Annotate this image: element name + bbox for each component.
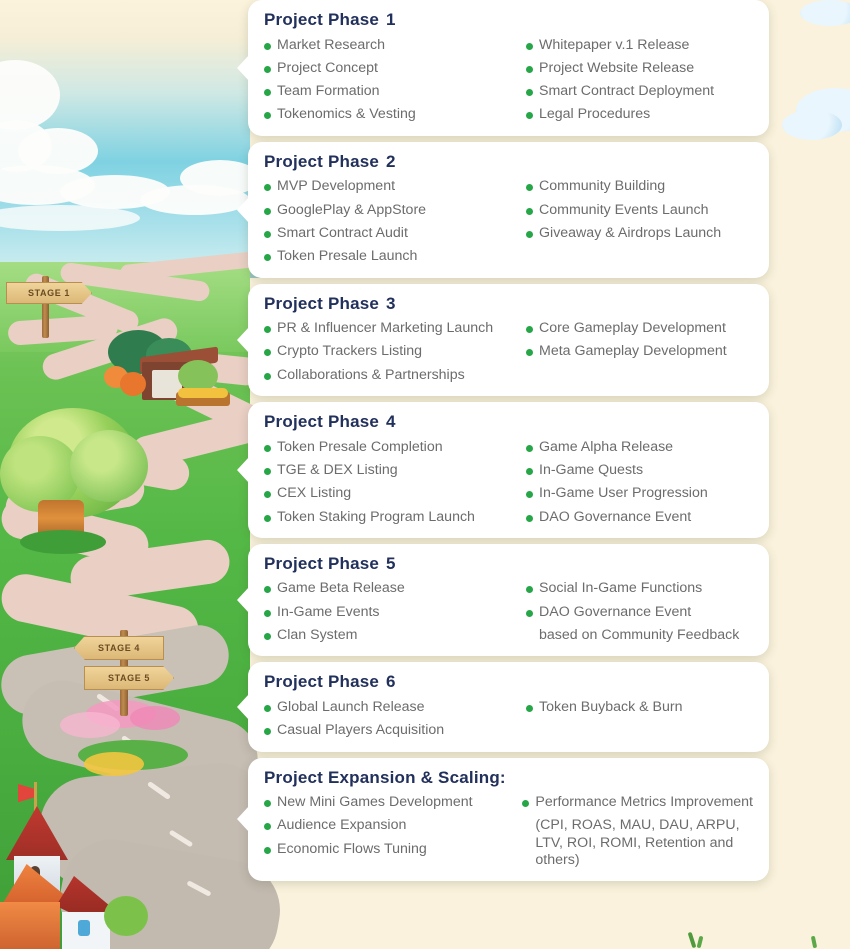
phase-item-label: In-Game User Progression [539,485,708,502]
phase-item-label: Casual Players Acquisition [277,722,444,739]
phase-item-label: Legal Procedures [539,106,650,123]
phase-item-label: Team Formation [277,83,380,100]
phase-item-label: TGE & DEX Listing [277,462,398,479]
bullet-dot-icon [264,515,271,522]
phase-title-text: Project Expansion & Scaling: [264,768,506,787]
phase-card-title: Project Phase6 [264,672,753,692]
signpost-stage-5-label: STAGE 5 [84,666,174,690]
flowers-yellow [84,752,144,776]
phase-item[interactable]: Social In-Game Functions [526,580,753,597]
phase-item[interactable]: Audience Expansion [264,817,522,834]
phase-item-label: Token Buyback & Burn [539,699,683,716]
phase-item[interactable]: Meta Gameplay Development [526,343,753,360]
phase-number: 4 [386,412,396,431]
phase-item[interactable]: Casual Players Acquisition [264,722,526,739]
bullet-dot-icon [264,254,271,261]
phase-item-continuation: based on Community Feedback [539,627,753,644]
tree-base-grass [20,530,106,554]
phase-item-label: DAO Governance Event [539,604,691,621]
phase-item[interactable]: GooglePlay & AppStore [264,202,526,219]
phase-item[interactable]: Crypto Trackers Listing [264,343,526,360]
phase-item[interactable]: Token Buyback & Burn [526,699,753,716]
phase-item[interactable]: Whitepaper v.1 Release [526,37,753,54]
phase-item[interactable]: Game Beta Release [264,580,526,597]
phase-card-title: Project Phase3 [264,294,753,314]
phase-item-label: Clan System [277,627,357,644]
phase-item-label: Game Alpha Release [539,439,673,456]
bush [104,896,148,936]
bullet-dot-icon [526,112,533,119]
bullet-dot-icon [526,208,533,215]
phase-columns: Global Launch ReleaseCasual Players Acqu… [264,699,753,740]
phase-column-left: New Mini Games DevelopmentAudience Expan… [264,794,522,869]
phase-item[interactable]: In-Game User Progression [526,485,753,502]
phase-item-label: Token Presale Launch [277,248,417,265]
phase-item[interactable]: Community Events Launch [526,202,753,219]
bullet-dot-icon [264,586,271,593]
phase-column-right: Game Alpha ReleaseIn-Game QuestsIn-Game … [526,439,753,526]
phase-item[interactable]: Team Formation [264,83,526,100]
phase-title-text: Project Phase [264,412,379,431]
phase-column-right: Performance Metrics Improvement(CPI, ROA… [522,794,753,869]
phase-column-right: Token Buyback & Burn [526,699,753,740]
phase-item[interactable]: Global Launch Release [264,699,526,716]
phase-card[interactable]: Project Phase1Market ResearchProject Con… [248,0,769,136]
bullet-dot-icon [526,491,533,498]
phase-column-right: Social In-Game FunctionsDAO Governance E… [526,580,753,644]
phase-number: 6 [386,672,396,691]
phase-item-continuation-label: based on Community Feedback [539,627,739,644]
phase-item-label: Economic Flows Tuning [277,841,427,858]
phase-item[interactable]: Collaborations & Partnerships [264,367,526,384]
phase-item-label: Project Website Release [539,60,694,77]
phase-title-text: Project Phase [264,294,379,313]
phase-column-left: Market ResearchProject ConceptTeam Forma… [264,37,526,124]
phase-item[interactable]: CEX Listing [264,485,526,502]
phase-item[interactable]: Community Building [526,178,753,195]
phase-item[interactable]: MVP Development [264,178,526,195]
flower-bed-blooms [178,388,228,398]
phase-item-label: New Mini Games Development [277,794,473,811]
phase-item[interactable]: TGE & DEX Listing [264,462,526,479]
phase-card-title: Project Phase2 [264,152,753,172]
phase-item-label: Global Launch Release [277,699,425,716]
phase-card[interactable]: Project Phase4Token Presale CompletionTG… [248,402,769,538]
phase-item[interactable]: PR & Influencer Marketing Launch [264,320,526,337]
bullet-dot-icon [526,445,533,452]
phase-item-label: Giveaway & Airdrops Launch [539,225,721,242]
phase-item-label: Game Beta Release [277,580,405,597]
bullet-dot-icon [526,184,533,191]
phase-title-text: Project Phase [264,554,379,573]
bullet-dot-icon [526,468,533,475]
phase-item-label: PR & Influencer Marketing Launch [277,320,493,337]
phase-item[interactable]: Economic Flows Tuning [264,841,522,858]
tree-canopy [70,430,148,502]
phase-item[interactable]: Smart Contract Deployment [526,83,753,100]
phase-card-title: Project Phase1 [264,10,753,30]
phase-column-left: Global Launch ReleaseCasual Players Acqu… [264,699,526,740]
phase-columns: Game Beta ReleaseIn-Game EventsClan Syst… [264,580,753,644]
phase-card[interactable]: Project Phase3PR & Influencer Marketing … [248,284,769,396]
phase-item-label: Token Presale Completion [277,439,443,456]
roadmap-screen: STAGE 1 STAGE 4 STAGE 5 Project Phase1Ma… [0,0,850,949]
phase-column-left: PR & Influencer Marketing LaunchCrypto T… [264,320,526,384]
signpost-stage-1-label: STAGE 1 [6,282,92,304]
phase-item-label: In-Game Quests [539,462,643,479]
phase-item-label: GooglePlay & AppStore [277,202,426,219]
phase-item[interactable]: Core Gameplay Development [526,320,753,337]
phase-item-label: Project Concept [277,60,378,77]
bullet-dot-icon [526,66,533,73]
signpost-stage-1: STAGE 1 [0,268,120,338]
phase-item[interactable]: Token Presale Completion [264,439,526,456]
phase-item-label: Social In-Game Functions [539,580,702,597]
bullet-dot-icon [264,66,271,73]
cloud-icon [782,110,842,140]
phase-card[interactable]: Project Phase2MVP DevelopmentGooglePlay … [248,142,769,278]
phase-columns: Market ResearchProject ConceptTeam Forma… [264,37,753,124]
bullet-dot-icon [264,468,271,475]
phase-item-label: Crypto Trackers Listing [277,343,422,360]
phase-card[interactable]: Project Expansion & Scaling:New Mini Gam… [248,758,769,882]
phase-card-title: Project Phase5 [264,554,753,574]
bullet-dot-icon [264,847,271,854]
phase-item[interactable]: Project Concept [264,60,526,77]
phase-item-label: Smart Contract Deployment [539,83,714,100]
bullet-dot-icon [264,208,271,215]
phase-item[interactable]: Performance Metrics Improvement [522,794,753,811]
bullet-dot-icon [526,586,533,593]
phase-item-label: Community Building [539,178,665,195]
phase-columns: PR & Influencer Marketing LaunchCrypto T… [264,320,753,384]
phase-item-label: In-Game Events [277,604,380,621]
signpost-stage-4-label: STAGE 4 [74,636,164,660]
phase-item-label: Collaborations & Partnerships [277,367,465,384]
bullet-dot-icon [526,610,533,617]
phase-item-label: DAO Governance Event [539,509,691,526]
phase-columns: MVP DevelopmentGooglePlay & AppStoreSmar… [264,178,753,265]
phase-item[interactable]: DAO Governance Event [526,604,753,621]
phase-item-label: CEX Listing [277,485,351,502]
bullet-dot-icon [264,112,271,119]
phase-item[interactable]: In-Game Events [264,604,526,621]
phase-item[interactable]: Game Alpha Release [526,439,753,456]
phase-column-left: Token Presale CompletionTGE & DEX Listin… [264,439,526,526]
phase-card[interactable]: Project Phase5Game Beta ReleaseIn-Game E… [248,544,769,656]
phase-columns: Token Presale CompletionTGE & DEX Listin… [264,439,753,526]
phase-columns: New Mini Games DevelopmentAudience Expan… [264,794,753,869]
phase-item-label: Whitepaper v.1 Release [539,37,689,54]
bullet-dot-icon [264,231,271,238]
house-window [78,920,90,936]
bullet-dot-icon [264,326,271,333]
bullet-dot-icon [526,43,533,50]
phase-item[interactable]: New Mini Games Development [264,794,522,811]
bullet-dot-icon [264,373,271,380]
bullet-dot-icon [526,231,533,238]
house-wall [0,902,60,949]
phase-item-label: Community Events Launch [539,202,709,219]
phase-item-label: Smart Contract Audit [277,225,408,242]
phase-title-text: Project Phase [264,672,379,691]
phase-title-text: Project Phase [264,152,379,171]
phase-item[interactable]: Smart Contract Audit [264,225,526,242]
bullet-dot-icon [264,823,271,830]
phase-number: 5 [386,554,396,573]
bullet-dot-icon [526,89,533,96]
phase-title-text: Project Phase [264,10,379,29]
bullet-dot-icon [264,800,271,807]
phase-column-right: Core Gameplay DevelopmentMeta Gameplay D… [526,320,753,384]
phase-column-left: MVP DevelopmentGooglePlay & AppStoreSmar… [264,178,526,265]
bullet-dot-icon [264,445,271,452]
bullet-dot-icon [522,800,529,807]
phase-item[interactable]: In-Game Quests [526,462,753,479]
phase-item[interactable]: DAO Governance Event [526,509,753,526]
phase-item[interactable]: Tokenomics & Vesting [264,106,526,123]
phase-number: 3 [386,294,396,313]
bullet-dot-icon [264,728,271,735]
bullet-dot-icon [526,515,533,522]
bullet-dot-icon [264,43,271,50]
phase-card-title: Project Phase4 [264,412,753,432]
phase-card[interactable]: Project Phase6Global Launch ReleaseCasua… [248,662,769,751]
phase-item-label: MVP Development [277,178,395,195]
phase-item[interactable]: Clan System [264,627,526,644]
bullet-dot-icon [526,326,533,333]
bullet-dot-icon [264,705,271,712]
phase-item[interactable]: Legal Procedures [526,106,753,123]
phase-item[interactable]: Market Research [264,37,526,54]
phase-item-label: Tokenomics & Vesting [277,106,416,123]
signpost-stage-4-5: STAGE 4 STAGE 5 [62,630,192,716]
phase-column-right: Whitepaper v.1 ReleaseProject Website Re… [526,37,753,124]
bullet-dot-icon [264,89,271,96]
bullet-dot-icon [264,184,271,191]
bullet-dot-icon [526,349,533,356]
phase-item-label: Token Staking Program Launch [277,509,475,526]
bullet-dot-icon [264,610,271,617]
phase-card-title: Project Expansion & Scaling: [264,768,753,788]
phase-item[interactable]: Token Presale Launch [264,248,526,265]
phase-item-label: Audience Expansion [277,817,406,834]
phase-item[interactable]: Giveaway & Airdrops Launch [526,225,753,242]
phase-item[interactable]: Token Staking Program Launch [264,509,526,526]
phase-item-label: Meta Gameplay Development [539,343,727,360]
bullet-dot-icon [264,491,271,498]
phase-column-right: Community BuildingCommunity Events Launc… [526,178,753,265]
phase-item-label: Core Gameplay Development [539,320,726,337]
pumpkin [120,372,146,396]
bullet-dot-icon [264,633,271,640]
phase-item-label: Performance Metrics Improvement [535,794,753,811]
phase-number: 2 [386,152,396,171]
phase-item-continuation-label: (CPI, ROAS, MAU, DAU, ARPU, LTV, ROI, RO… [535,817,753,869]
bullet-dot-icon [526,705,533,712]
phase-number: 1 [386,10,396,29]
phase-item-continuation: (CPI, ROAS, MAU, DAU, ARPU, LTV, ROI, RO… [535,817,753,869]
phase-item-label: Market Research [277,37,385,54]
phase-column-left: Game Beta ReleaseIn-Game EventsClan Syst… [264,580,526,644]
bullet-dot-icon [264,349,271,356]
phase-item[interactable]: Project Website Release [526,60,753,77]
roadmap-phase-list: Project Phase1Market ResearchProject Con… [248,0,769,887]
